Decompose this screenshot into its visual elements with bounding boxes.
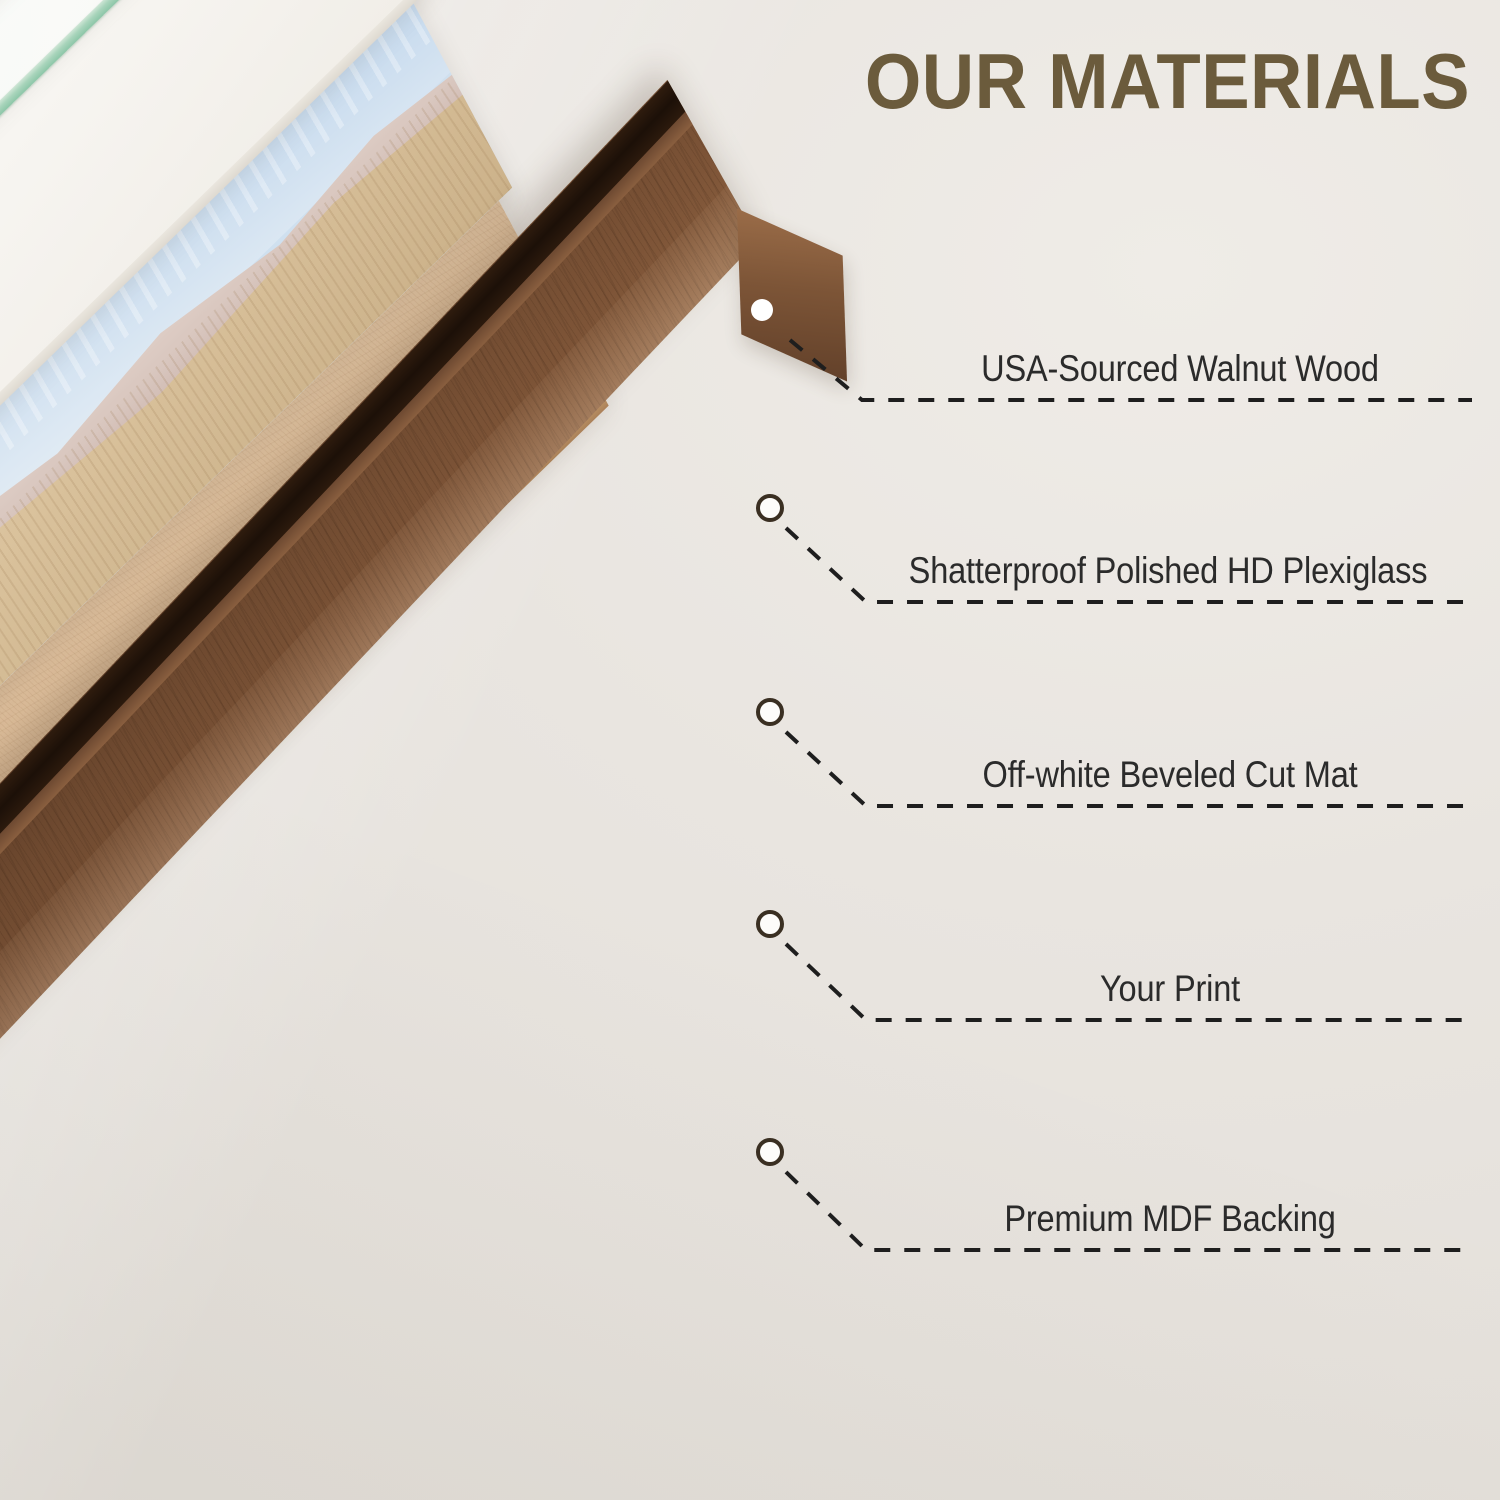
page-title: OUR MATERIALS <box>782 42 1470 120</box>
materials-infographic: OUR MATERIALS <box>0 0 1500 1500</box>
callout-label-plexiglass: Shatterproof Polished HD Plexiglass <box>895 550 1441 592</box>
exploded-frame-stack <box>0 0 1500 1500</box>
callout-label-walnut-wood: USA-Sourced Walnut Wood <box>916 348 1444 390</box>
frame-mitre-corner <box>737 209 847 382</box>
callout-label-mdf-backing: Premium MDF Backing <box>906 1198 1434 1240</box>
callout-label-cut-mat: Off-white Beveled Cut Mat <box>906 754 1434 796</box>
callout-label-your-print: Your Print <box>906 968 1434 1010</box>
